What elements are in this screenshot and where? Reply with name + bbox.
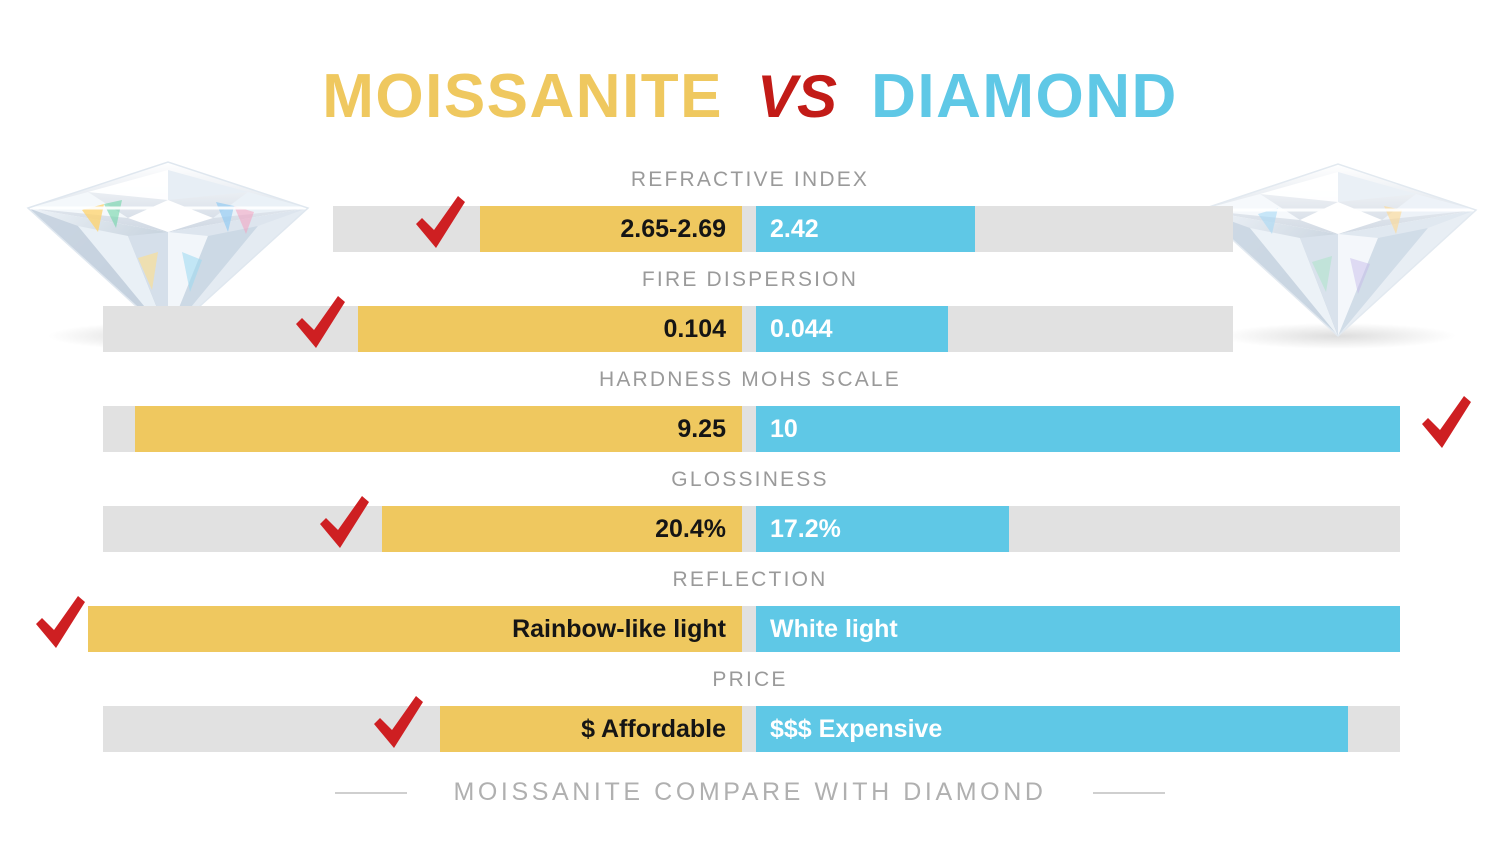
footer: MOISSANITE COMPARE WITH DIAMOND	[0, 778, 1500, 807]
diamond-bar: White light	[756, 606, 1400, 652]
row-label: REFRACTIVE INDEX	[0, 168, 1500, 192]
check-icon	[412, 194, 468, 254]
title-moissanite: MOISSANITE	[322, 66, 723, 128]
title-vs: VS	[757, 62, 837, 131]
diamond-bar: 17.2%	[756, 506, 1009, 552]
row-track	[103, 506, 1400, 552]
diamond-bar: 2.42	[756, 206, 975, 252]
diamond-bar: $$$ Expensive	[756, 706, 1348, 752]
check-icon	[32, 594, 88, 654]
check-icon	[292, 294, 348, 354]
comparison-row: GLOSSINESS20.4%17.2%	[0, 468, 1500, 568]
moissanite-bar: 2.65-2.69	[480, 206, 742, 252]
infographic-page: MOISSANITE VS DIAMOND	[0, 0, 1500, 850]
footer-rule-right	[1093, 792, 1165, 794]
comparison-row: HARDNESS MOHS SCALE9.2510	[0, 368, 1500, 468]
footer-rule-left	[335, 792, 407, 794]
moissanite-bar: $ Affordable	[440, 706, 742, 752]
comparison-row: PRICE$ Affordable$$$ Expensive	[0, 668, 1500, 768]
check-icon	[370, 694, 426, 754]
footer-caption: MOISSANITE COMPARE WITH DIAMOND	[453, 778, 1046, 807]
row-label: GLOSSINESS	[0, 468, 1500, 492]
comparison-row: REFLECTIONRainbow-like lightWhite light	[0, 568, 1500, 668]
comparison-rows: REFRACTIVE INDEX2.65-2.692.42FIRE DISPER…	[0, 168, 1500, 768]
diamond-bar: 0.044	[756, 306, 948, 352]
moissanite-bar: 0.104	[358, 306, 742, 352]
row-label: FIRE DISPERSION	[0, 268, 1500, 292]
title-diamond: DIAMOND	[871, 66, 1178, 128]
comparison-row: REFRACTIVE INDEX2.65-2.692.42	[0, 168, 1500, 268]
comparison-row: FIRE DISPERSION0.1040.044	[0, 268, 1500, 368]
page-title: MOISSANITE VS DIAMOND	[0, 62, 1500, 131]
row-label: PRICE	[0, 668, 1500, 692]
check-icon	[316, 494, 372, 554]
row-label: HARDNESS MOHS SCALE	[0, 368, 1500, 392]
moissanite-bar: 20.4%	[382, 506, 742, 552]
check-icon	[1418, 394, 1474, 454]
moissanite-bar: Rainbow-like light	[88, 606, 742, 652]
moissanite-bar: 9.25	[135, 406, 742, 452]
diamond-bar: 10	[756, 406, 1400, 452]
row-label: REFLECTION	[0, 568, 1500, 592]
